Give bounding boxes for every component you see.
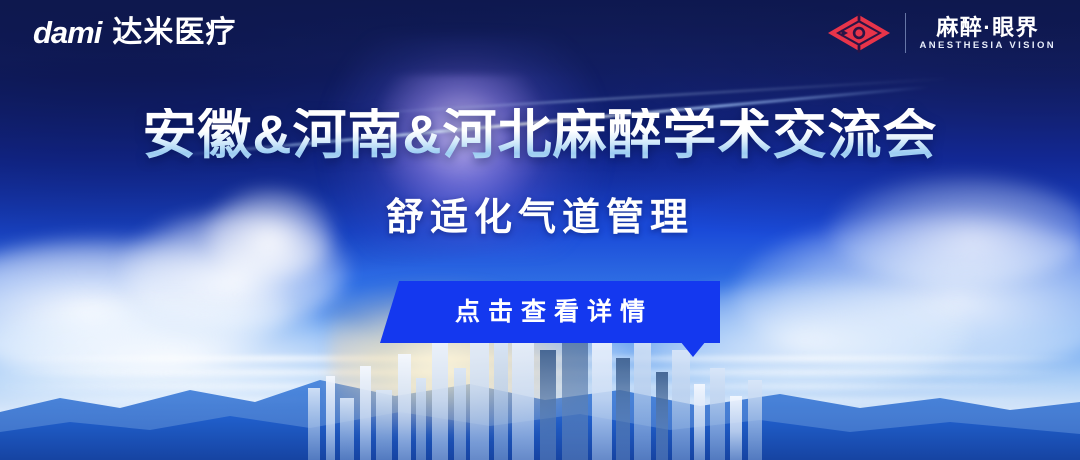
logo-divider: [905, 13, 906, 53]
view-details-button[interactable]: 点击查看详情: [380, 281, 720, 343]
page-subtitle: 舒适化气道管理: [0, 199, 1080, 237]
anesthesia-vision-en: ANESTHESIA VISION: [919, 41, 1056, 51]
eye-diamond-icon: [826, 13, 892, 53]
dami-cn-name: 达米医疗: [112, 18, 236, 48]
anesthesia-vision-logo[interactable]: 麻醉·眼界 ANESTHESIA VISION: [826, 13, 1056, 53]
page-title: 安徽&河南&河北麻醉学术交流会: [0, 108, 1080, 162]
anesthesia-vision-cn: 麻醉·眼界: [936, 16, 1039, 39]
cta-container: 点击查看详情: [380, 281, 720, 343]
promo-banner: dami 达米医疗 麻醉·眼界 ANESTHESIA VISION 安徽&河南&…: [0, 0, 1080, 460]
cta-label: 点击查看详情: [447, 300, 653, 325]
dami-logo[interactable]: dami 达米医疗: [33, 17, 236, 48]
dami-wordmark: dami: [33, 17, 101, 48]
